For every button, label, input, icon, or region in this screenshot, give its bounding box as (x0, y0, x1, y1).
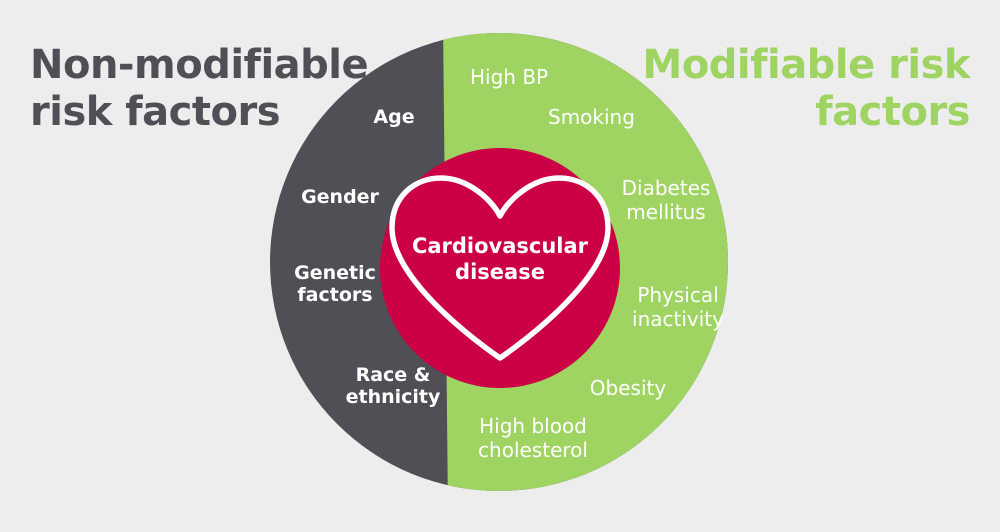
risk-factor-label-gender: Gender (288, 186, 392, 208)
risk-factor-label-age: Age (346, 106, 442, 128)
risk-factor-label-genetic-factors: Genetic factors (282, 262, 388, 307)
risk-factor-label-high-blood-cholesterol: High blood cholesterol (458, 415, 608, 462)
risk-factor-label-high-bp: High BP (470, 66, 570, 90)
risk-factor-label-physical-inactivity: Physical inactivity (620, 284, 736, 331)
center-label-cardiovascular-disease: Cardiovascular disease (400, 234, 600, 285)
risk-factor-label-obesity: Obesity (578, 377, 678, 401)
risk-factor-label-smoking: Smoking (548, 106, 658, 130)
cardiovascular-risk-factors-infographic: Non-modifiable risk factors Modifiable r… (0, 0, 1000, 532)
risk-factor-label-race-ethnicity: Race & ethnicity (336, 364, 450, 409)
risk-factor-label-diabetes-mellitus: Diabetes mellitus (608, 177, 724, 224)
